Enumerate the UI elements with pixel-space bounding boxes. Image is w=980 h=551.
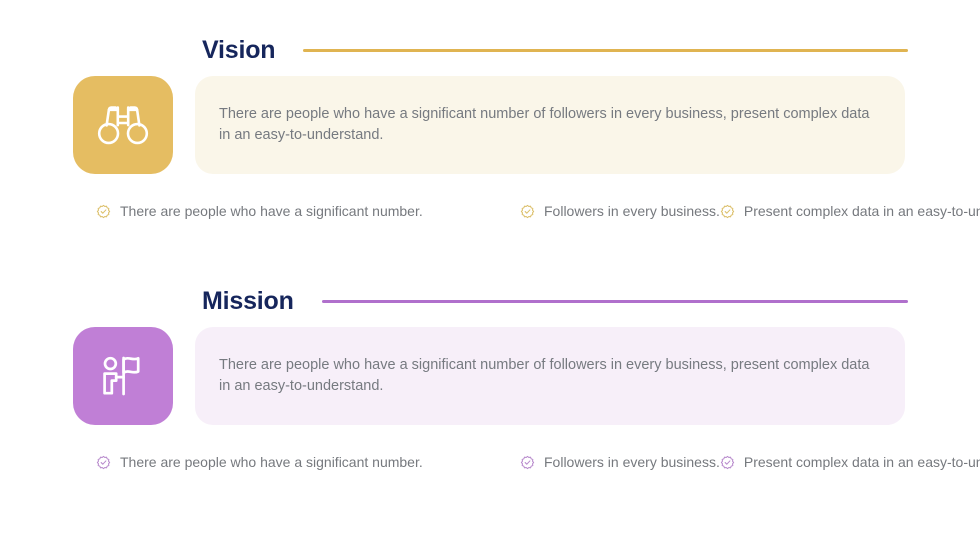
list-item[interactable]: There are people who have a significant …: [96, 449, 520, 475]
check-list-vision: There are people who have a significant …: [0, 198, 980, 224]
check-badge-icon: [96, 204, 111, 219]
list-item[interactable]: Present complex data in an easy-to-under…: [720, 198, 980, 224]
list-item-label: Followers in every business.: [544, 455, 720, 469]
page-title-mission: Mission: [202, 289, 294, 314]
flag-person-icon: [98, 351, 148, 401]
section-mission: Mission There are people who have a sign…: [0, 281, 980, 475]
section-vision: Vision: [0, 30, 980, 224]
list-item[interactable]: There are people who have a significant …: [96, 198, 520, 224]
list-item-label: There are people who have a significant …: [120, 455, 423, 469]
check-badge-icon: [520, 204, 535, 219]
check-badge-icon: [520, 455, 535, 470]
list-item[interactable]: Followers in every business.: [520, 449, 720, 475]
list-item-label: Present complex data in an easy-to-under…: [744, 204, 980, 218]
check-badge-icon: [96, 455, 111, 470]
icon-tile-vision: [73, 76, 173, 174]
section-body-vision: There are people who have a significant …: [0, 76, 980, 174]
description-text-vision: There are people who have a significant …: [219, 104, 881, 146]
description-card-vision: There are people who have a significant …: [195, 76, 905, 174]
list-item-label: Followers in every business.: [544, 204, 720, 218]
list-item[interactable]: Present complex data in an easy-to-under…: [720, 449, 980, 475]
section-divider-mission: [322, 300, 908, 303]
list-item[interactable]: Followers in every business.: [520, 198, 720, 224]
binoculars-icon: [96, 102, 150, 148]
list-item-label: Present complex data in an easy-to-under…: [744, 455, 980, 469]
section-header-mission: Mission: [0, 281, 980, 321]
slide-canvas: Vision: [0, 0, 980, 551]
section-divider-vision: [303, 49, 908, 52]
check-badge-icon: [720, 455, 735, 470]
list-item-label: There are people who have a significant …: [120, 204, 423, 218]
check-badge-icon: [720, 204, 735, 219]
page-title-vision: Vision: [202, 38, 275, 63]
description-card-mission: There are people who have a significant …: [195, 327, 905, 425]
check-list-mission: There are people who have a significant …: [0, 449, 980, 475]
icon-tile-mission: [73, 327, 173, 425]
section-header-vision: Vision: [0, 30, 980, 70]
description-text-mission: There are people who have a significant …: [219, 355, 881, 397]
section-body-mission: There are people who have a significant …: [0, 327, 980, 425]
